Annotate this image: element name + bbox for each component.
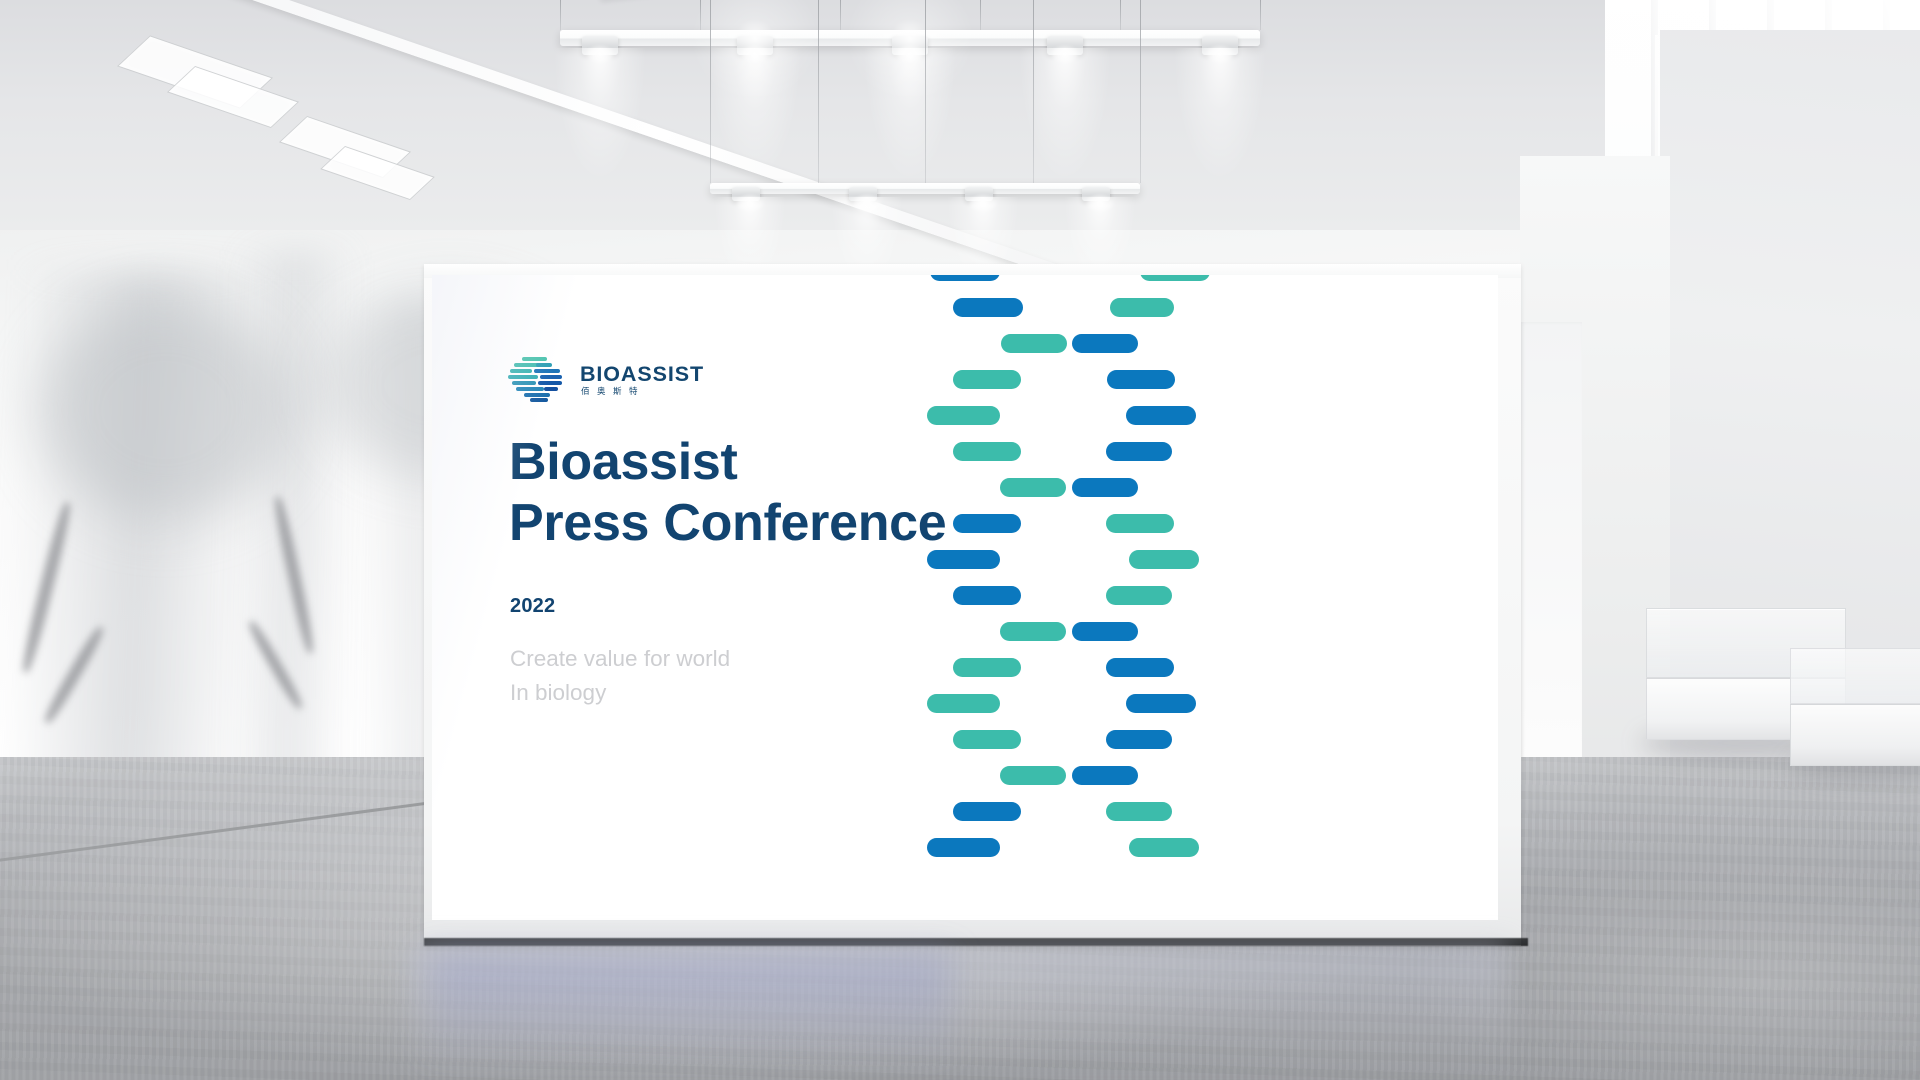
- logo-mark-bar: [510, 369, 532, 373]
- logo-mark-bar: [538, 381, 562, 385]
- pendant-suspension-wire: [1033, 0, 1034, 183]
- lamp-hotspot: [737, 195, 763, 211]
- pedestal-glass-case: [1790, 648, 1920, 704]
- bioassist-dna-bars-logo-icon: [508, 357, 566, 402]
- pendant-suspension-wire: [1140, 0, 1141, 183]
- dna-band-bar: [1072, 766, 1138, 785]
- logo-mark-bar: [544, 387, 558, 391]
- dna-band-bar: [927, 694, 1000, 713]
- dna-band-bar: [953, 370, 1021, 389]
- dna-band-bar: [1129, 550, 1199, 569]
- dna-band-bar: [1140, 275, 1210, 281]
- dna-band-bar: [1001, 334, 1067, 353]
- lamp-hotspot: [587, 46, 613, 62]
- dna-band-bar: [953, 298, 1023, 317]
- glass-display-pedestal-secondary: [1790, 648, 1920, 766]
- logo-mark-bar: [536, 363, 552, 367]
- lamp-hotspot: [1087, 195, 1113, 211]
- dna-band-bar: [953, 802, 1021, 821]
- logo-mark-bar: [508, 375, 538, 379]
- lamp-hotspot: [897, 46, 923, 62]
- pendant-suspension-wire: [840, 0, 841, 30]
- pendant-suspension-wire: [980, 0, 981, 30]
- logo-mark-bar: [512, 381, 536, 385]
- dna-band-bar: [1110, 298, 1174, 317]
- pendant-suspension-wire: [560, 0, 561, 30]
- pendant-suspension-wire: [818, 0, 819, 183]
- logo-mark-bar: [530, 398, 548, 402]
- logo-wordmark: BIOASSIST: [580, 364, 704, 386]
- lamp-hotspot: [1207, 46, 1233, 62]
- pendant-suspension-wire: [700, 0, 701, 30]
- presentation-slide[interactable]: BIOASSIST 佰奥斯特 Bioassist Press Conferenc…: [432, 275, 1498, 920]
- pendant-suspension-wire: [1120, 0, 1121, 30]
- pendant-suspension-wire: [1260, 0, 1261, 30]
- page-title-line1: Bioassist: [509, 432, 946, 493]
- dna-band-bar: [1106, 586, 1172, 605]
- dna-band-bar: [1106, 730, 1172, 749]
- dna-band-graphic: [930, 275, 1450, 892]
- page-title: Bioassist Press Conference: [509, 432, 946, 555]
- dna-band-bar: [953, 730, 1021, 749]
- brand-logo[interactable]: BIOASSIST 佰奥斯特: [508, 357, 704, 402]
- dna-band-bar: [1072, 622, 1138, 641]
- lamp-hotspot: [742, 46, 768, 62]
- logo-mark-bar: [522, 357, 547, 361]
- page-title-line2: Press Conference: [509, 493, 946, 554]
- dna-band-bar: [1000, 478, 1066, 497]
- lamp-hotspot: [854, 195, 880, 211]
- tagline-line1: Create value for world: [510, 642, 730, 676]
- year-label: 2022: [510, 595, 555, 618]
- logo-mark-bar: [540, 375, 562, 379]
- dna-band-bar: [1072, 334, 1138, 353]
- slide-floor-reflection-tint: [430, 955, 950, 1065]
- dna-band-bar: [927, 406, 1000, 425]
- dna-band-bar: [927, 550, 1000, 569]
- dna-band-bar: [953, 514, 1021, 533]
- pedestal-base: [1790, 704, 1920, 766]
- dna-band-bar: [1106, 442, 1172, 461]
- pendant-suspension-wire: [925, 0, 926, 183]
- dna-band-bar: [1106, 802, 1172, 821]
- dna-band-bar: [1000, 622, 1066, 641]
- dna-band-bar: [1126, 406, 1196, 425]
- dna-band-bar: [953, 442, 1021, 461]
- dna-band-bar: [1072, 478, 1138, 497]
- gallery-scene: BIOASSIST 佰奥斯特 Bioassist Press Conferenc…: [0, 0, 1920, 1080]
- logo-chinese-name: 佰奥斯特: [580, 387, 704, 396]
- pendant-light-rail: [710, 183, 1140, 194]
- dna-band-bar: [1129, 838, 1199, 857]
- dna-band-bar: [1106, 514, 1174, 533]
- dna-band-bar: [1107, 370, 1175, 389]
- dna-band-bar: [1126, 694, 1196, 713]
- dna-band-bar: [927, 838, 1000, 857]
- tagline-line2: In biology: [510, 676, 730, 710]
- logo-wordmark-group: BIOASSIST 佰奥斯特: [580, 364, 704, 395]
- dna-band-bar: [930, 275, 1000, 281]
- pendant-suspension-wire: [710, 0, 711, 183]
- dna-band-bar: [1106, 658, 1174, 677]
- lamp-hotspot: [1052, 46, 1078, 62]
- logo-mark-bar: [534, 369, 560, 373]
- dna-band-bar: [1000, 766, 1066, 785]
- dna-band-bar: [953, 658, 1021, 677]
- logo-mark-bar: [516, 387, 544, 391]
- wall-shadow-blob: [40, 300, 290, 520]
- dna-band-bar: [953, 586, 1021, 605]
- logo-mark-bar: [524, 393, 550, 397]
- tagline: Create value for world In biology: [510, 642, 730, 710]
